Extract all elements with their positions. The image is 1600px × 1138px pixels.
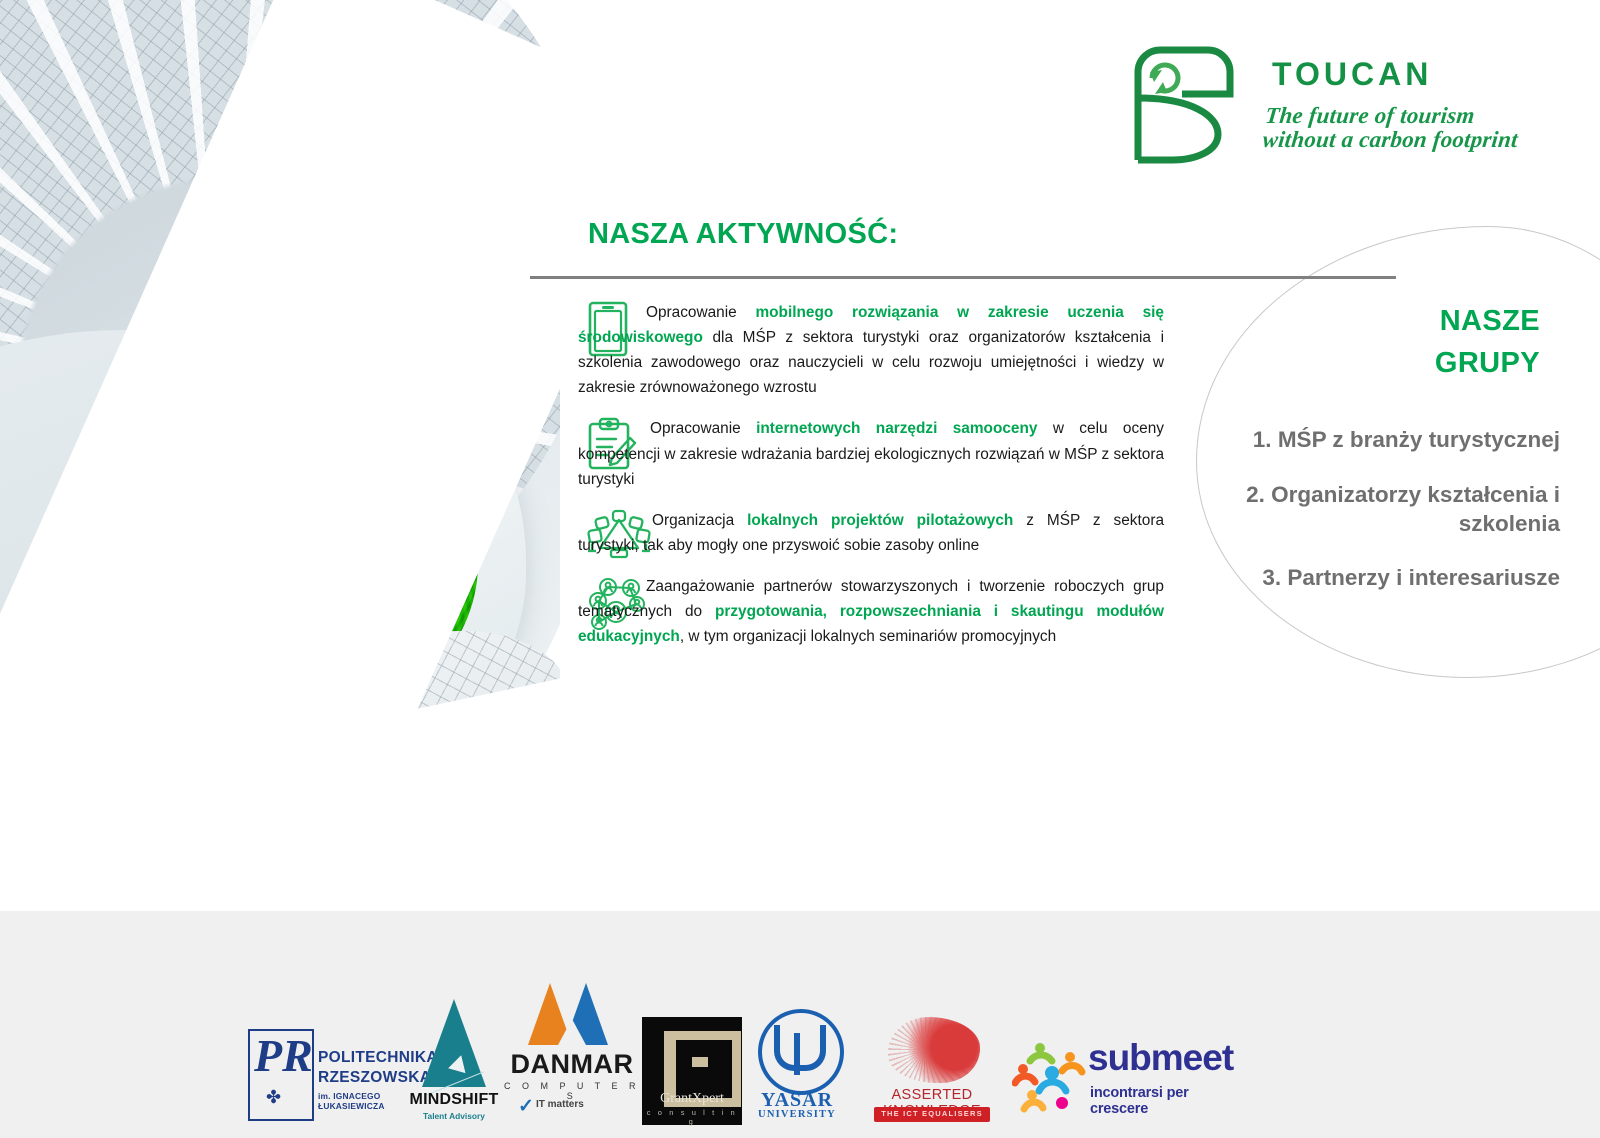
activity-item: Opracowanie internetowych narzędzi samoo… xyxy=(578,416,1164,491)
toucan-logo-mark xyxy=(1122,42,1252,166)
target-groups-title: NASZE GRUPY xyxy=(1186,300,1560,384)
toucan-tagline-line2: without a carbon footprint xyxy=(1261,128,1544,152)
toucan-tagline: The future of tourism without a carbon f… xyxy=(1261,104,1546,153)
yasar-university-logo: YASAR UNIVERSITY xyxy=(742,1009,852,1125)
submeet-people-icon xyxy=(1012,1039,1088,1115)
submeet-logo: submeet incontrarsi per crescere xyxy=(1012,1033,1242,1125)
page-title: NASZA AKTYWNOŚĆ: xyxy=(588,218,898,251)
mindshift-line2: Talent Advisory xyxy=(406,1111,502,1121)
activity-text-plain: , w tym organizacji lokalnych seminariów… xyxy=(680,628,1056,645)
target-group-item: 2. Organizatorzy kształcenia i szkolenia xyxy=(1186,481,1560,539)
activity-text: Opracowanie internetowych narzędzi samoo… xyxy=(578,416,1164,491)
toucan-tagline-line1: The future of tourism xyxy=(1264,104,1547,128)
target-groups-panel: NASZE GRUPY 1. MŚP z branży turystycznej… xyxy=(1186,300,1560,619)
mindshift-logo: MINDSHIFT Talent Advisory xyxy=(406,995,502,1125)
activity-item: Opracowanie mobilnego rozwiązania w zakr… xyxy=(578,300,1164,400)
asserted-knowledge-logo: ASSERTED KNOWLEDGE THE ICT EQUALISERS xyxy=(852,1017,1012,1125)
slide-root: TOUCAN The future of tourism without a c… xyxy=(0,0,1600,1138)
yasar-line2: UNIVERSITY xyxy=(742,1109,852,1120)
gx-g-bar xyxy=(692,1057,708,1067)
pr-emblem-star: ✤ xyxy=(266,1087,281,1108)
danmar-line1: DANMAR xyxy=(502,1049,642,1080)
activity-item: Organizacja lokalnych projektów pilotażo… xyxy=(578,508,1164,558)
toucan-logo: TOUCAN The future of tourism without a c… xyxy=(1122,42,1552,170)
activity-text: Zaangażowanie partnerów stowarzyszonych … xyxy=(578,574,1164,649)
spiral-staircase-greenery-photo xyxy=(0,0,560,912)
submeet-line2: incontrarsi per crescere xyxy=(1090,1085,1242,1117)
pr-line3: im. IGNACEGO ŁUKASIEWICZA xyxy=(318,1091,406,1111)
submeet-line1: submeet xyxy=(1088,1037,1233,1079)
target-group-item: 3. Partnerzy i interesariusze xyxy=(1186,564,1560,593)
grantxpert-consulting-logo: GrantXpert c o n s u l t i n g xyxy=(642,1017,742,1125)
activity-text-plain: Opracowanie xyxy=(650,420,756,437)
activity-item: Zaangażowanie partnerów stowarzyszonych … xyxy=(578,574,1164,649)
gx-line2: c o n s u l t i n g xyxy=(642,1108,742,1126)
activity-text-plain: Organizacja xyxy=(652,512,747,529)
target-groups-title-line1: NASZE xyxy=(1186,300,1540,342)
activity-text-highlight: internetowych narzędzi samooceny xyxy=(756,420,1037,437)
partner-logo-bar: PR ✤ POLITECHNIKA RZESZOWSKA im. IGNACEG… xyxy=(0,911,1600,1138)
target-group-item: 1. MŚP z branży turystycznej xyxy=(1186,426,1560,455)
pr-emblem-letters: PR xyxy=(254,1035,313,1076)
partner-logos: PR ✤ POLITECHNIKA RZESZOWSKA im. IGNACEG… xyxy=(236,929,1316,1125)
activity-text: Opracowanie mobilnego rozwiązania w zakr… xyxy=(578,300,1164,400)
target-groups-list: 1. MŚP z branży turystycznej 2. Organiza… xyxy=(1186,426,1560,593)
ak-face-icon xyxy=(888,1017,980,1083)
danmar-check-icon: ✓ xyxy=(518,1095,534,1118)
danmar-peak-notch xyxy=(558,1019,586,1045)
toucan-wordmark: TOUCAN xyxy=(1272,56,1432,93)
activities-list: Opracowanie mobilnego rozwiązania w zakr… xyxy=(578,300,1164,665)
activity-text: Organizacja lokalnych projektów pilotażo… xyxy=(578,508,1164,558)
ak-line2: THE ICT EQUALISERS xyxy=(874,1109,990,1118)
danmar-computers-logo: DANMAR C O M P U T E R S ✓ IT matters xyxy=(502,979,642,1125)
politechnika-rzeszowska-logo: PR ✤ POLITECHNIKA RZESZOWSKA im. IGNACEG… xyxy=(236,1021,406,1125)
yasar-stem-icon xyxy=(794,1033,800,1075)
danmar-line3: IT matters xyxy=(536,1099,584,1110)
target-groups-title-line2: GRUPY xyxy=(1186,342,1540,384)
title-divider xyxy=(530,276,1396,279)
activity-text-highlight: lokalnych projektów pilotażowych xyxy=(747,512,1013,529)
mindshift-line1: MINDSHIFT xyxy=(406,1091,502,1109)
activity-text-plain: Opracowanie xyxy=(646,304,755,321)
gx-line1: GrantXpert xyxy=(642,1091,742,1107)
